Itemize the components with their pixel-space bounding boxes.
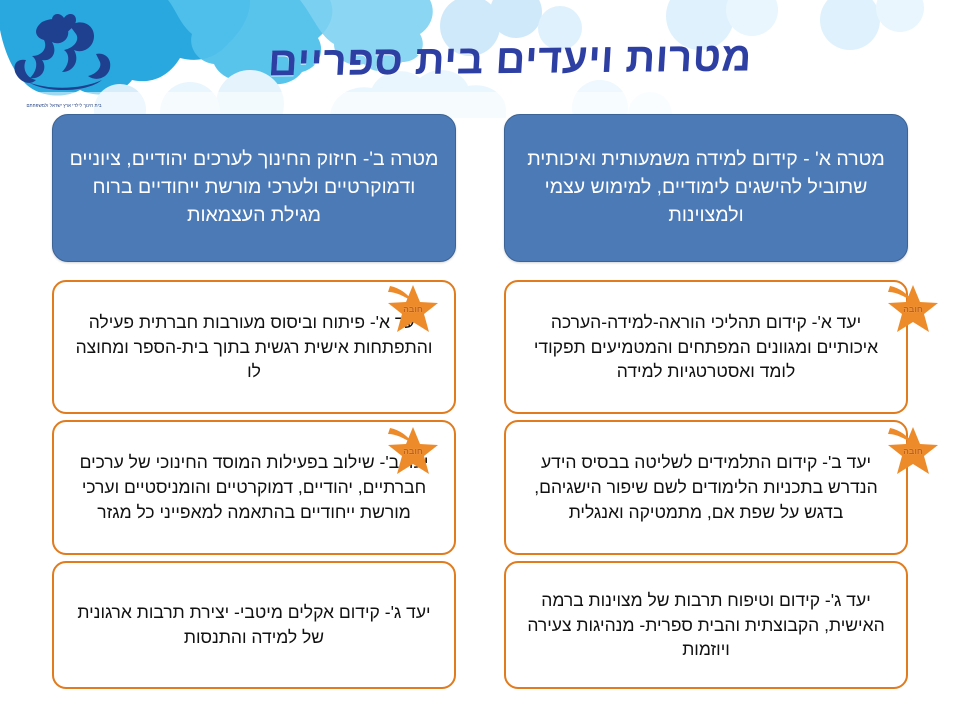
goal-b-objective-3[interactable]: יעד ג'- קידום אקלים מיטבי- יצירת תרבות א… (52, 561, 456, 689)
goal-a-objective-2-label: יעד ב'- קידום התלמידים לשליטה בבסיס הידע… (524, 450, 888, 525)
goal-a-objective-3-label: יעד ג'- קידום וטיפוח תרבות של מצוינות בר… (524, 588, 888, 663)
page-title: מטרות ויעדים בית ספריים (178, 33, 841, 87)
mandatory-star-badge-a2-label: חובה (884, 446, 942, 456)
goal-a-box[interactable]: מטרה א' - קידום למידה משמעותית ואיכותית … (504, 114, 908, 262)
goal-a-objective-1-label: יעד א'- קידום תהליכי הוראה-למידה-הערכה א… (524, 310, 888, 385)
school-logo: בית חינוך לילדי ארץ ישראל ולמשפחתם (8, 8, 120, 112)
goal-a-objective-2[interactable]: יעד ב'- קידום התלמידים לשליטה בבסיס הידע… (504, 420, 908, 555)
goal-a-label: מטרה א' - קידום למידה משמעותית ואיכותית … (521, 146, 891, 229)
logo-caption: בית חינוך לילדי ארץ ישראל ולמשפחתם (10, 103, 118, 108)
goals-board: מטרה א' - קידום למידה משמעותית ואיכותית … (0, 114, 960, 720)
goal-b-objective-1-label: יעד א'- פיתוח וביסוס מעורבות חברתית פעיל… (72, 310, 436, 385)
mandatory-star-badge-b1-label: חובה (384, 304, 442, 314)
column-goal-a: מטרה א' - קידום למידה משמעותית ואיכותית … (504, 114, 908, 689)
slide-canvas: בית חינוך לילדי ארץ ישראל ולמשפחתם מטרות… (0, 0, 960, 720)
mandatory-star-badge-b2[interactable]: חובה (384, 424, 442, 480)
mandatory-star-badge-b1[interactable]: חובה (384, 282, 442, 338)
goal-b-objective-3-label: יעד ג'- קידום אקלים מיטבי- יצירת תרבות א… (72, 600, 436, 650)
mandatory-star-badge-a2[interactable]: חובה (884, 424, 942, 480)
mandatory-star-badge-a1-label: חובה (884, 304, 942, 314)
goal-b-box[interactable]: מטרה ב'- חיזוק החינוך לערכים יהודיים, צי… (52, 114, 456, 262)
mandatory-star-badge-a1[interactable]: חובה (884, 282, 942, 338)
column-goal-b: מטרה ב'- חיזוק החינוך לערכים יהודיים, צי… (52, 114, 456, 689)
mandatory-star-badge-b2-label: חובה (384, 446, 442, 456)
goal-b-label: מטרה ב'- חיזוק החינוך לערכים יהודיים, צי… (69, 146, 439, 229)
goal-a-objective-1[interactable]: יעד א'- קידום תהליכי הוראה-למידה-הערכה א… (504, 280, 908, 414)
goal-b-objective-2-label: יעד ב'- שילוב בפעילות המוסד החינוכי של ע… (72, 450, 436, 525)
goal-a-objective-3[interactable]: יעד ג'- קידום וטיפוח תרבות של מצוינות בר… (504, 561, 908, 689)
